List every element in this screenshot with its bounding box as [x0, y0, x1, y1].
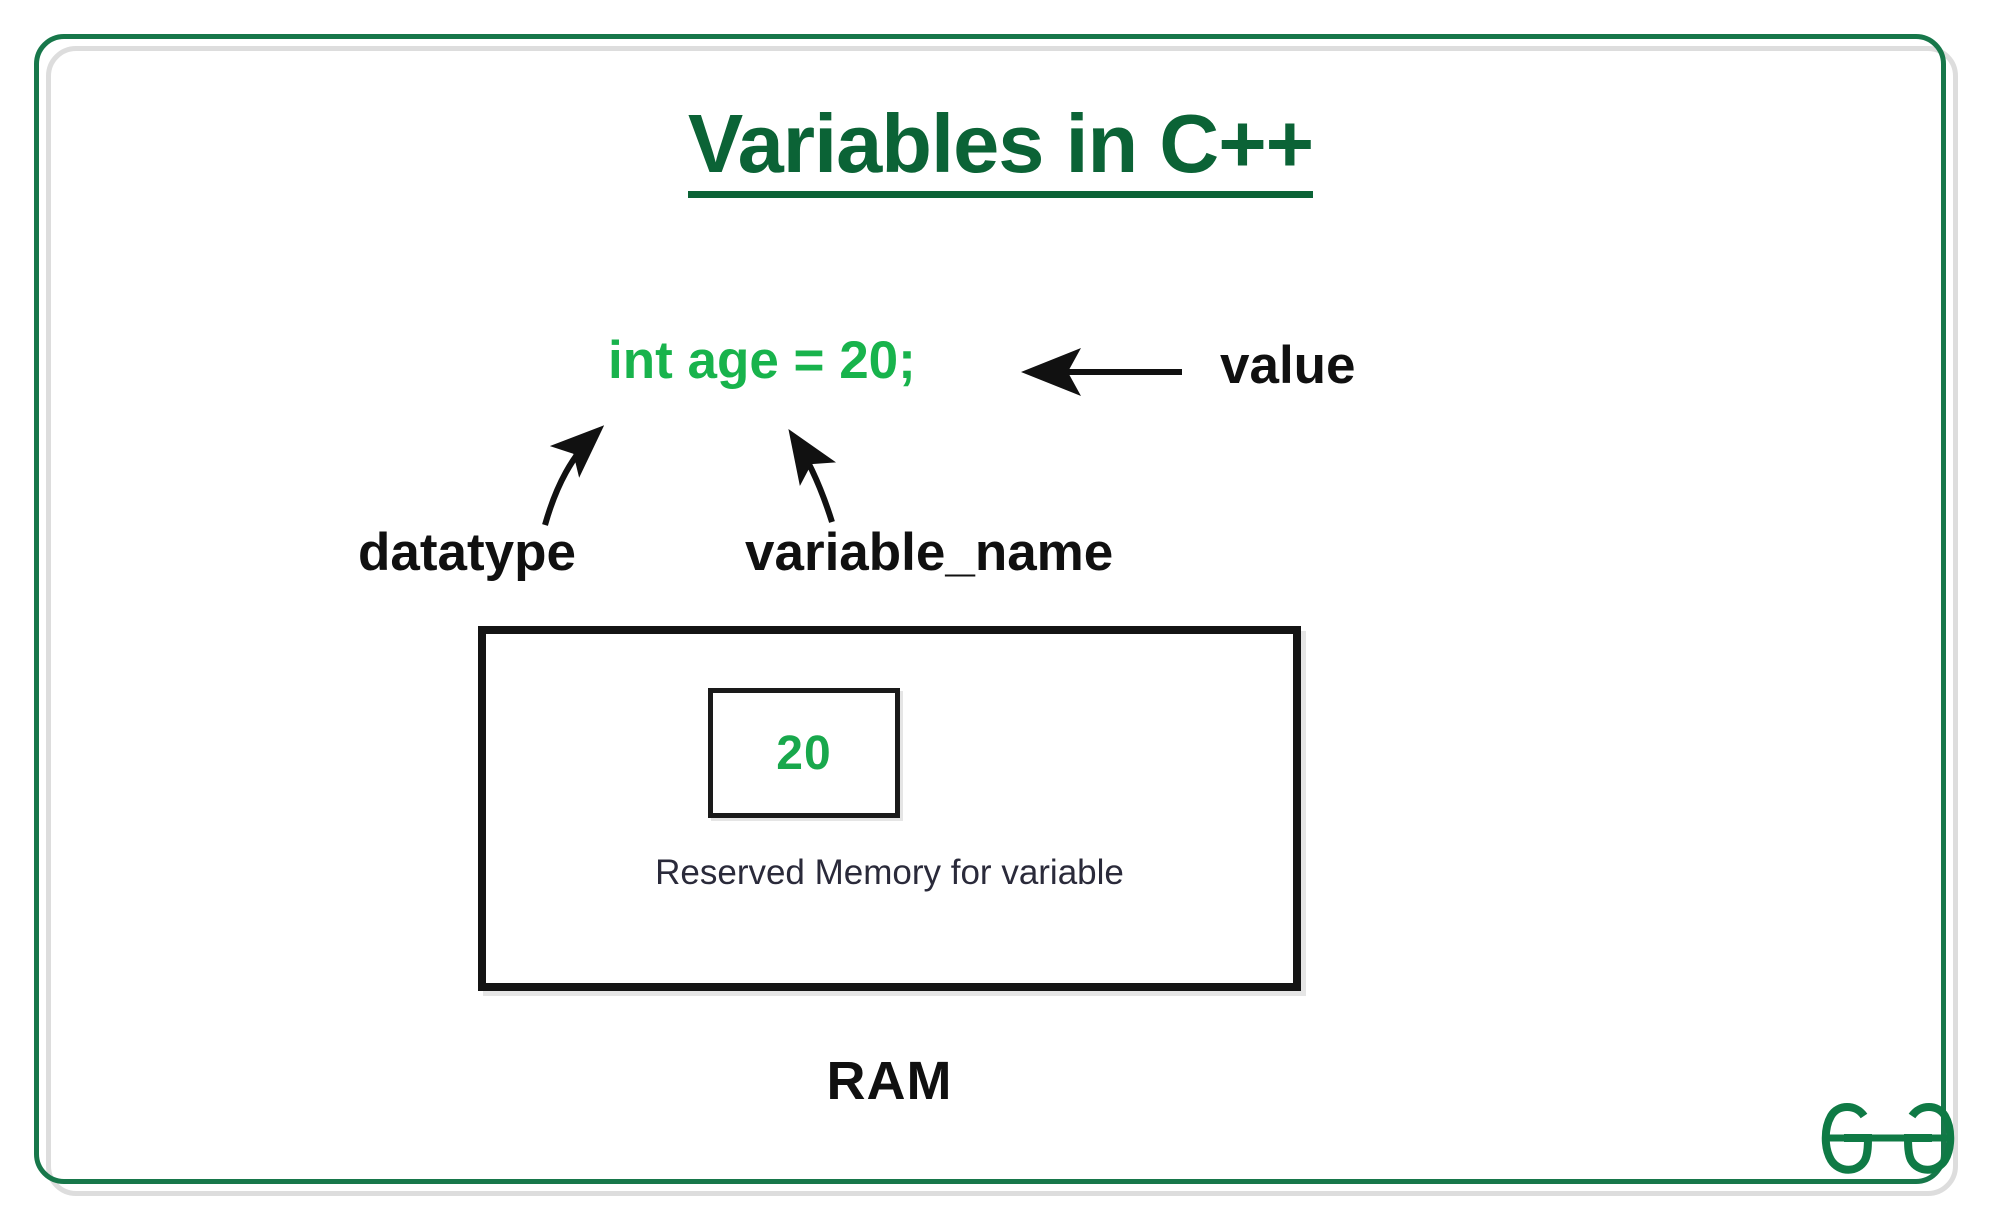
- slide-border-frame: [34, 34, 1946, 1184]
- geeksforgeeks-logo-icon: [1818, 1082, 1958, 1192]
- annotation-variable-name-label: variable_name: [745, 522, 1113, 583]
- code-statement: int age = 20;: [608, 330, 916, 391]
- slide-canvas: Variables in C++ int age = 20; value dat…: [0, 0, 2001, 1231]
- annotation-value-label: value: [1220, 335, 1356, 396]
- memory-cell: 20: [708, 688, 900, 818]
- page-title: Variables in C++: [0, 100, 2001, 198]
- annotation-datatype-label: datatype: [358, 522, 576, 583]
- page-title-text: Variables in C++: [688, 100, 1313, 198]
- ram-label: RAM: [478, 1050, 1301, 1112]
- reserved-memory-caption: Reserved Memory for variable: [478, 853, 1301, 893]
- memory-cell-value: 20: [776, 726, 831, 781]
